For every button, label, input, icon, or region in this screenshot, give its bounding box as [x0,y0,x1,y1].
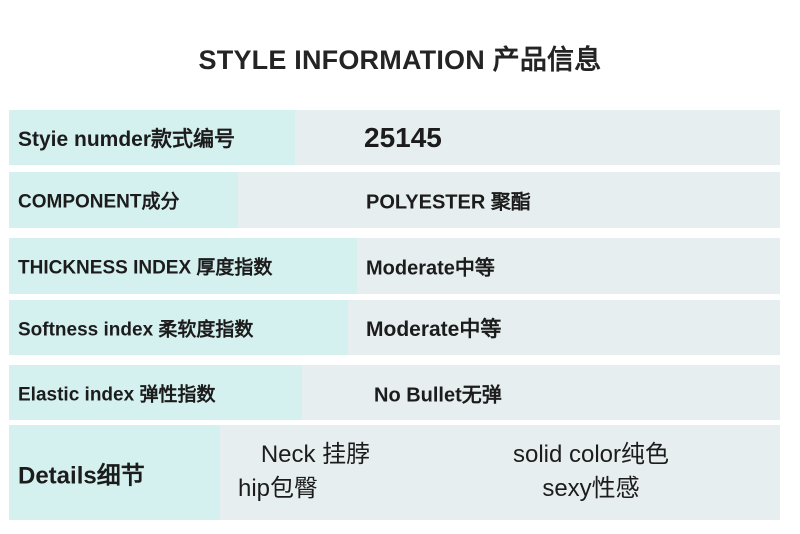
row-value-thickness-index: Moderate中等 [366,252,495,281]
details-column-right: solid color纯色 sexy性感 [461,438,721,508]
table-row-component: COMPONENT成分 POLYESTER 聚酯 [9,172,780,228]
details-item-neck: Neck 挂脖 [228,438,403,473]
table-row-softness-index: Softness index 柔软度指数 Moderate中等 [9,300,780,355]
row-label-style-number: Styie numder款式编号 [18,123,235,153]
table-row-thickness-index: THICKNESS INDEX 厚度指数 Moderate中等 [9,238,780,294]
row-value-softness-index: Moderate中等 [366,313,501,343]
details-item-sexy: sexy性感 [461,473,721,508]
row-label-softness-index: Softness index 柔软度指数 [18,314,253,341]
row-label-details: Details细节 [18,455,145,490]
style-information-page: STYLE INFORMATION 产品信息 Styie numder款式编号 … [0,0,800,534]
page-title: STYLE INFORMATION 产品信息 [0,38,800,77]
row-label-thickness-index: THICKNESS INDEX 厚度指数 [18,253,272,280]
row-value-style-number: 25145 [364,122,442,154]
row-value-elastic-index: No Bullet无弹 [374,378,502,407]
details-column-left: Neck 挂脖 hip包臀 [228,438,403,508]
details-item-solid-color: solid color纯色 [461,438,721,473]
row-value-component: POLYESTER 聚酯 [366,186,531,215]
table-row-details: Details细节 Neck 挂脖 hip包臀 solid color纯色 se… [9,425,780,520]
table-row-style-number: Styie numder款式编号 25145 [9,110,780,165]
row-label-elastic-index: Elastic index 弹性指数 [18,379,215,406]
row-label-component: COMPONENT成分 [18,187,180,214]
details-item-hip: hip包臀 [228,473,403,508]
table-row-elastic-index: Elastic index 弹性指数 No Bullet无弹 [9,365,780,420]
